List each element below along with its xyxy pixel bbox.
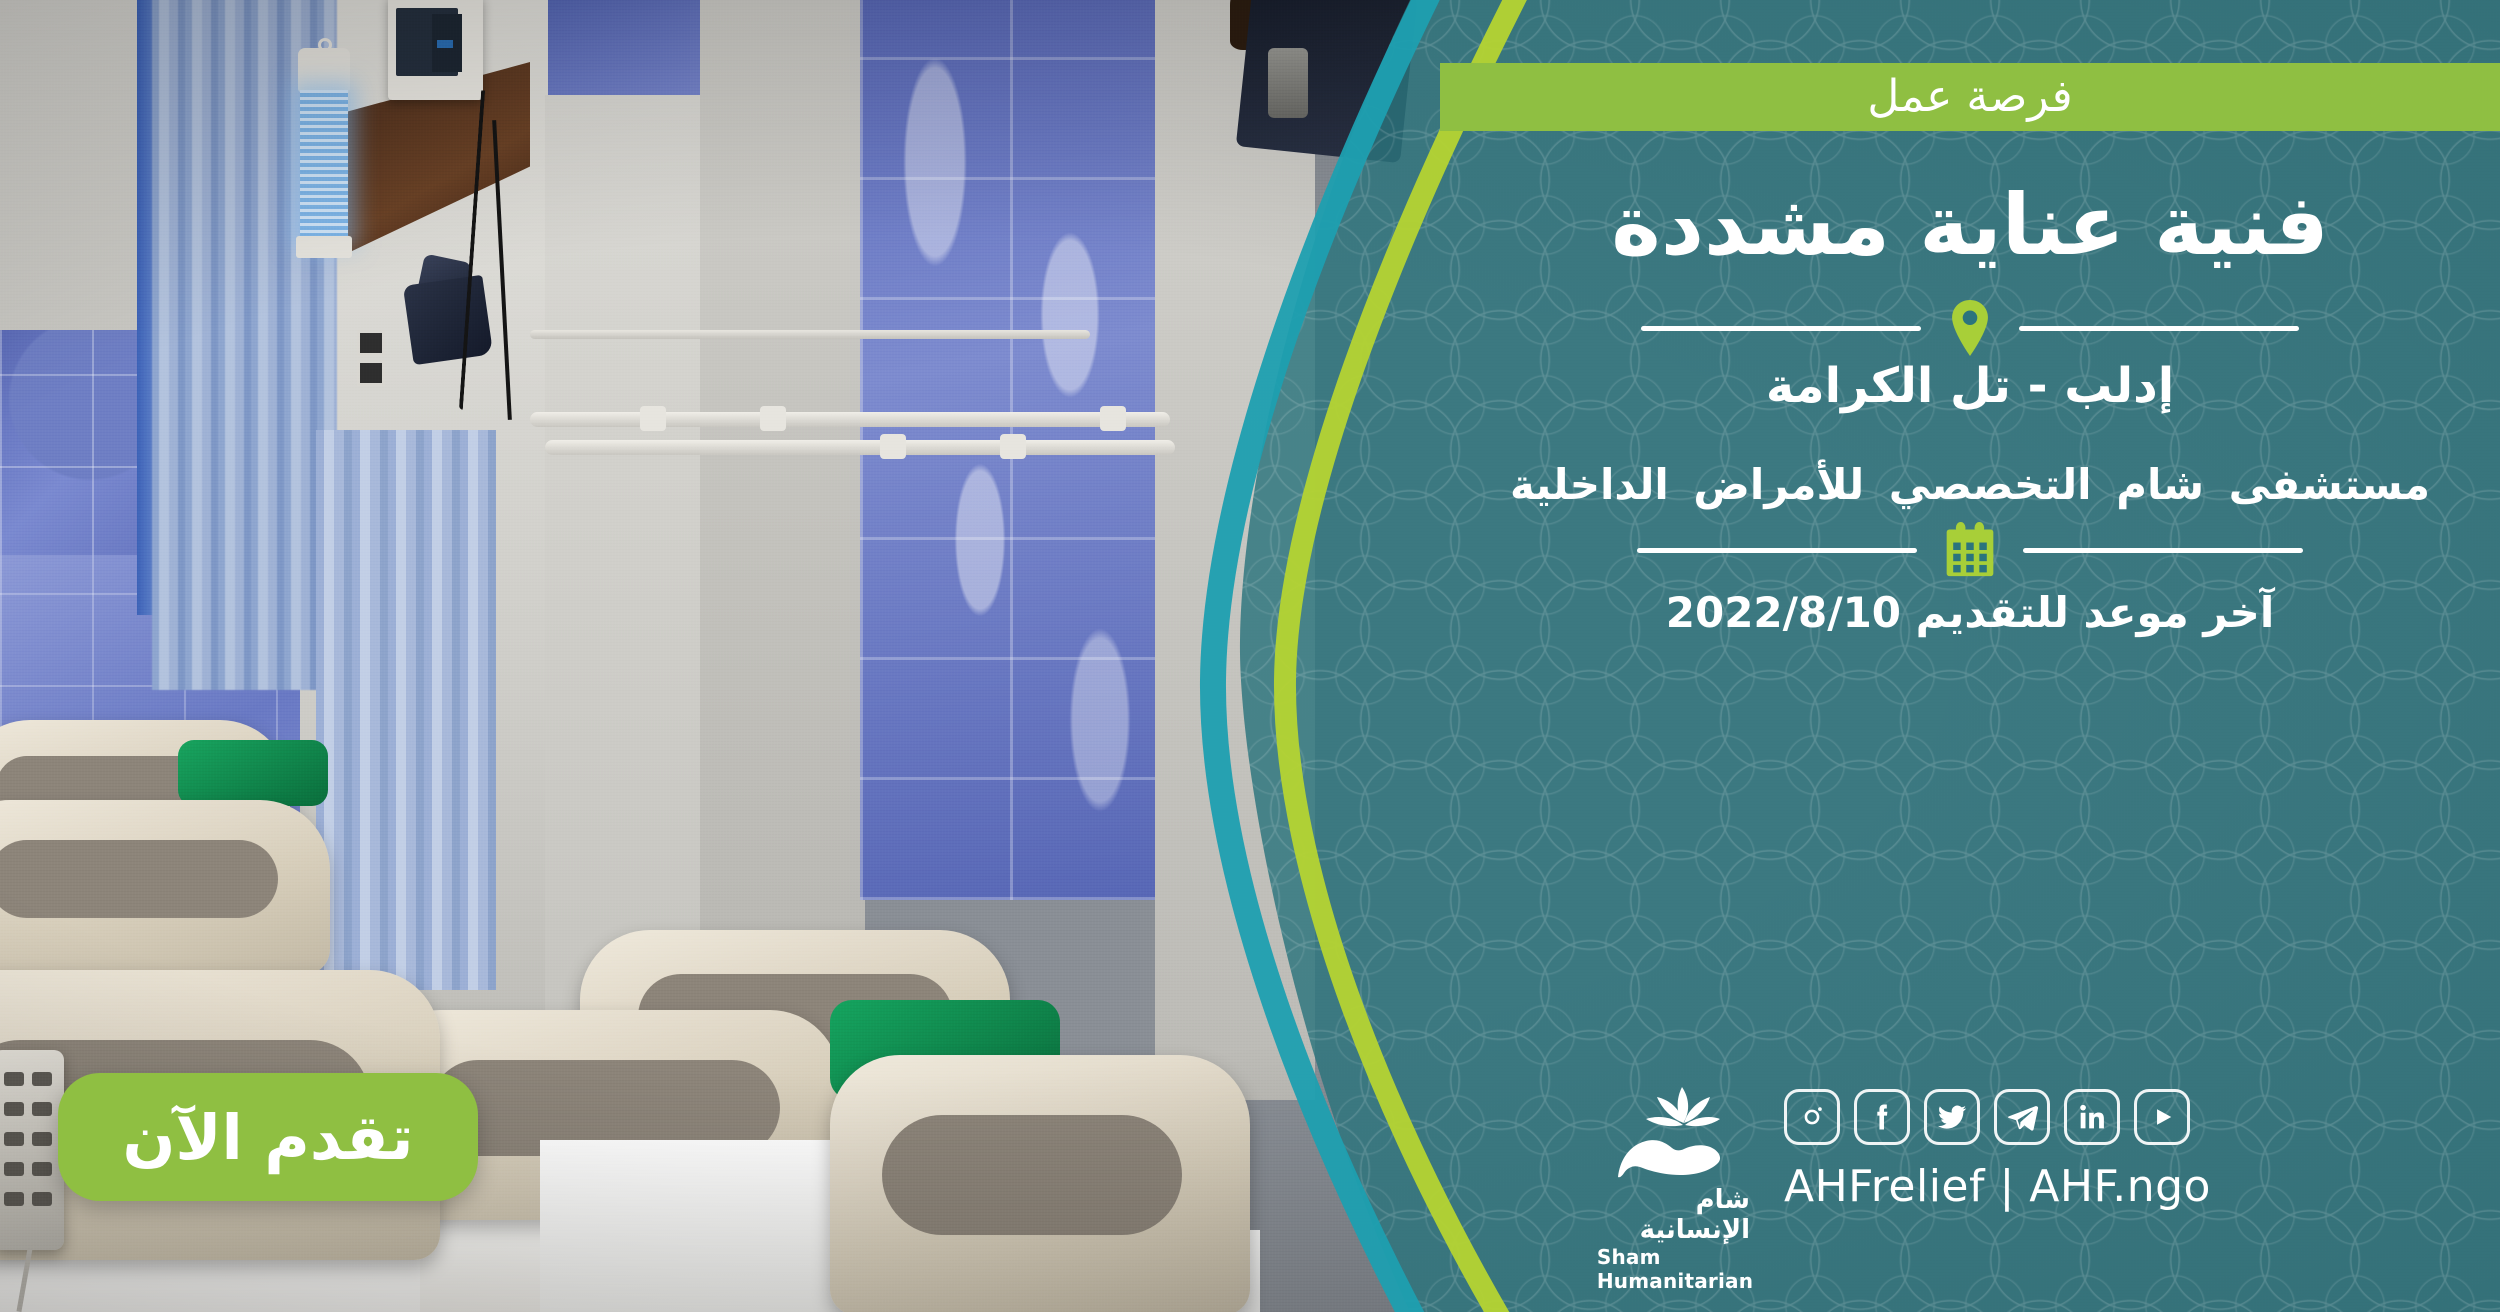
social-facebook[interactable]	[1854, 1089, 1910, 1145]
social-youtube[interactable]	[2134, 1089, 2190, 1145]
organization-name: مستشفى شام التخصصي للأمراض الداخلية	[1240, 460, 2500, 509]
social-telegram[interactable]	[1994, 1089, 2050, 1145]
divider-line-left-2	[1637, 548, 1917, 553]
date-divider-row	[1440, 522, 2500, 578]
poster-footer: شام الإنسانية Sham Humanitarian	[1600, 1075, 2500, 1295]
location-text: إدلب - تل الكرامة	[1440, 358, 2500, 414]
job-vacancy-poster: فرصة عمل فنية عناية مشددة إدلب - تل الكر…	[0, 0, 2500, 1312]
twitter-icon	[1935, 1100, 1969, 1134]
calendar-icon	[1943, 522, 1997, 578]
application-deadline: آخر موعد للتقديم 2022/8/10	[1440, 588, 2500, 637]
instagram-icon	[1795, 1100, 1829, 1134]
facebook-icon	[1865, 1100, 1899, 1134]
job-opportunity-ribbon: فرصة عمل	[1440, 63, 2500, 131]
ribbon-label: فرصة عمل	[1867, 75, 2072, 119]
divider-line-left	[1641, 326, 1921, 331]
job-title: فنية عناية مشددة	[1440, 176, 2500, 274]
social-instagram[interactable]	[1784, 1089, 1840, 1145]
location-divider-row	[1440, 300, 2500, 356]
youtube-icon	[2145, 1100, 2179, 1134]
divider-line-right-2	[2023, 548, 2303, 553]
social-handles: AHFrelief | AHF.ngo	[1784, 1161, 2211, 1212]
apply-now-label: تقدم الآن	[122, 1101, 413, 1174]
logo-english-name: Sham Humanitarian	[1597, 1245, 1753, 1293]
social-twitter[interactable]	[1924, 1089, 1980, 1145]
linkedin-icon	[2075, 1100, 2109, 1134]
organization-logo: شام الإنسانية Sham Humanitarian	[1600, 1075, 1750, 1293]
social-linkedin[interactable]	[2064, 1089, 2120, 1145]
telegram-icon	[2005, 1100, 2039, 1134]
hand-with-plant-icon	[1610, 1081, 1740, 1189]
divider-line-right	[2019, 326, 2299, 331]
social-links	[1784, 1089, 2211, 1145]
logo-arabic-name: شام الإنسانية	[1600, 1185, 1750, 1245]
map-pin-icon	[1947, 300, 1993, 356]
apply-now-button[interactable]: تقدم الآن	[58, 1073, 478, 1201]
